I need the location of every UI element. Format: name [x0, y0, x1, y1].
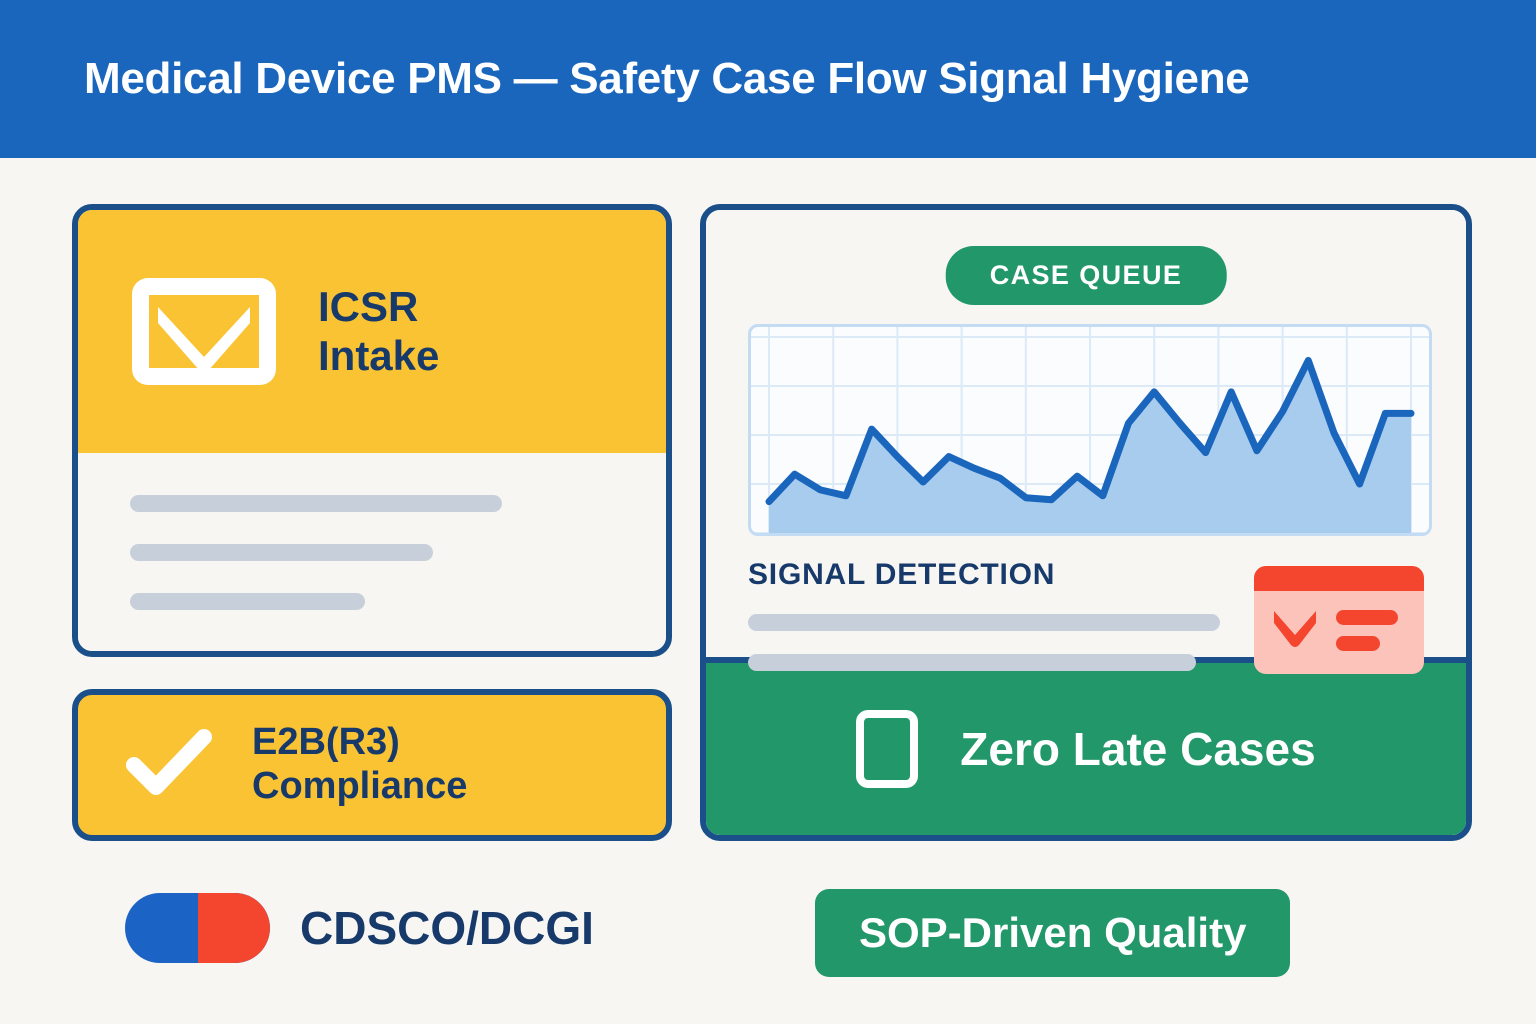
envelope-icon: [132, 278, 276, 385]
checkmark-icon: [126, 727, 212, 804]
infographic-page: Medical Device PMS — Safety Case Flow Si…: [0, 0, 1536, 1024]
e2b-card-label: E2B(R3) Compliance: [252, 721, 467, 808]
alert-card-header-bar: [1254, 566, 1424, 591]
alert-line: [1336, 636, 1380, 651]
e2b-compliance-card[interactable]: E2B(R3) Compliance: [72, 689, 672, 841]
skeleton-line: [748, 614, 1220, 631]
icsr-card-label: ICSR Intake: [318, 283, 439, 380]
alert-card-lines: [1336, 610, 1398, 651]
case-queue-chart: [748, 324, 1432, 536]
document-outline-icon: [856, 710, 918, 788]
pill-capsule-icon: [125, 893, 270, 963]
alert-card-icon: [1254, 566, 1424, 674]
case-queue-badge[interactable]: CASE QUEUE: [946, 246, 1227, 305]
alert-chevron-icon: [1268, 603, 1322, 658]
sop-driven-quality-badge[interactable]: SOP-Driven Quality: [815, 889, 1290, 977]
skeleton-line: [748, 654, 1196, 671]
page-title: Medical Device PMS — Safety Case Flow Si…: [84, 54, 1249, 104]
page-header: Medical Device PMS — Safety Case Flow Si…: [0, 0, 1536, 158]
alert-line: [1336, 610, 1398, 625]
panel-upper-section: CASE QUEUE SIGNAL DETECTION: [706, 210, 1466, 657]
icsr-intake-card[interactable]: ICSR Intake: [72, 204, 672, 657]
case-queue-panel[interactable]: CASE QUEUE SIGNAL DETECTION: [700, 204, 1472, 841]
zero-late-cases-label: Zero Late Cases: [960, 722, 1315, 776]
cdsco-dcgi-label: CDSCO/DCGI: [300, 901, 594, 955]
cdsco-dcgi-badge[interactable]: CDSCO/DCGI: [125, 893, 594, 963]
case-queue-chart-svg: [751, 327, 1429, 533]
alert-card-body: [1254, 591, 1424, 658]
icsr-card-body: [78, 453, 666, 657]
icsr-card-header: ICSR Intake: [78, 210, 666, 453]
skeleton-line: [130, 495, 502, 512]
skeleton-line: [130, 544, 433, 561]
skeleton-line: [130, 593, 365, 610]
